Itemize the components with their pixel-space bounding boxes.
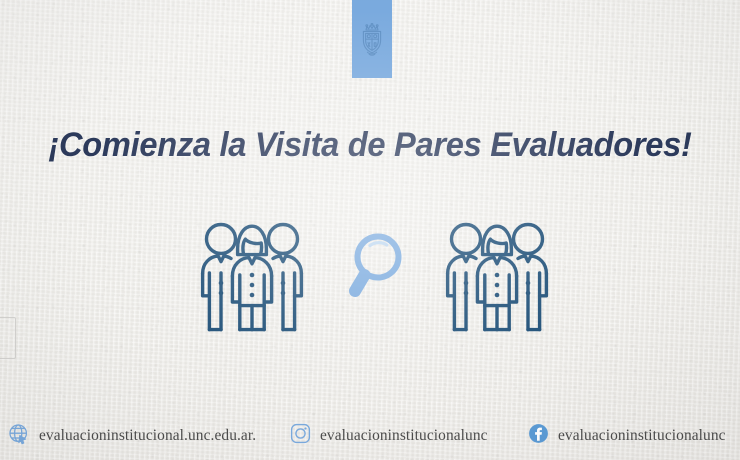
footer-item-facebook[interactable]: evaluacioninstitucionalunc xyxy=(528,423,726,449)
three-people-group-left xyxy=(199,213,305,340)
unc-crest-icon xyxy=(357,18,387,60)
footer-item-instagram[interactable]: evaluacioninstitucionalunc xyxy=(290,423,488,449)
magnifying-glass-icon xyxy=(340,229,404,312)
page-title: ¡Comienza la Visita de Pares Evaluadores… xyxy=(20,128,719,163)
three-people-group-right xyxy=(444,213,550,340)
footer-item-website[interactable]: evaluacioninstitucional.unc.edu.ar. xyxy=(8,423,256,450)
instagram-icon xyxy=(290,423,311,449)
unc-crest-banner xyxy=(352,0,392,78)
footer-facebook-label: evaluacioninstitucionalunc xyxy=(558,427,726,445)
poster-canvas: ¡Comienza la Visita de Pares Evaluadores… xyxy=(0,0,740,460)
footer-website-label: evaluacioninstitucional.unc.edu.ar. xyxy=(39,427,256,445)
globe-cursor-icon xyxy=(8,423,30,450)
footer-instagram-label: evaluacioninstitucionalunc xyxy=(320,427,488,445)
illustration-row xyxy=(0,213,740,343)
edge-watermark-box xyxy=(0,317,16,359)
footer-social-bar: evaluacioninstitucional.unc.edu.ar. eval… xyxy=(0,412,740,460)
facebook-icon xyxy=(528,423,549,449)
